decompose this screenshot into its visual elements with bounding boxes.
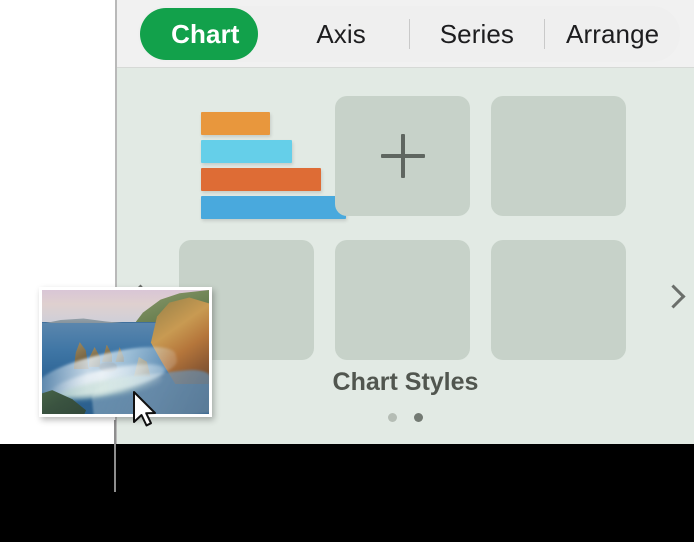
chart-style-empty-1[interactable] — [491, 96, 626, 216]
chart-style-thumbnail[interactable] — [179, 96, 314, 216]
tab-track: Chart Axis Series Arrange — [138, 6, 680, 62]
tab-axis[interactable]: Axis — [274, 6, 409, 62]
tab-chart-label: Chart — [171, 19, 239, 50]
chevron-right-icon[interactable] — [658, 274, 688, 318]
chevron-right-glyph — [661, 284, 685, 308]
chart-bar-3 — [201, 196, 346, 219]
chart-style-empty-4[interactable] — [491, 240, 626, 360]
tab-axis-label: Axis — [316, 19, 366, 50]
tab-series-label: Series — [440, 19, 514, 50]
drop-guide-line — [114, 420, 116, 492]
page-dot-2[interactable] — [414, 413, 423, 422]
tab-series[interactable]: Series — [410, 6, 545, 62]
chart-style-add[interactable] — [335, 96, 470, 216]
inspector-tab-bar: Chart Axis Series Arrange — [117, 0, 694, 68]
plus-icon — [381, 134, 425, 178]
bar-chart-preview — [181, 110, 341, 222]
tab-chart[interactable]: Chart — [138, 6, 273, 62]
chart-style-empty-3[interactable] — [335, 240, 470, 360]
chart-bar-0 — [201, 112, 270, 135]
page-dot-1[interactable] — [388, 413, 397, 422]
photo-image — [42, 290, 209, 414]
tab-arrange-label: Arrange — [566, 19, 659, 50]
dragged-photo-thumbnail[interactable] — [39, 287, 212, 417]
tab-arrange[interactable]: Arrange — [545, 6, 680, 62]
chart-styles-grid — [179, 96, 629, 360]
chart-bar-1 — [201, 140, 292, 163]
chart-bar-2 — [201, 168, 321, 191]
